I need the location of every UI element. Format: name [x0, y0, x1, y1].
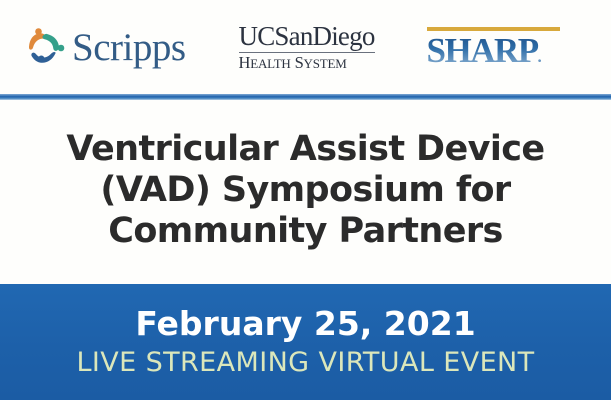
ucsd-diego-text: Diego	[313, 21, 375, 51]
event-details-band: February 25, 2021 LIVE STREAMING VIRTUAL…	[0, 284, 611, 400]
scripps-logo: Scripps	[22, 24, 186, 70]
event-title-line-2: (VAD) Symposium for	[100, 170, 510, 211]
ucsd-health-system-text: HEALTH SYSTEM	[239, 54, 375, 71]
event-title-block: Ventricular Assist Device (VAD) Symposiu…	[0, 100, 611, 284]
ucsd-h-cap: H	[239, 53, 251, 72]
ucsd-s-cap: S	[295, 53, 304, 72]
scripps-circle-figures-icon	[22, 24, 68, 70]
ucsd-ealth-text: EALTH	[250, 56, 290, 71]
event-title-line-1: Ventricular Assist Device	[66, 129, 544, 170]
uc-san-diego-health-logo: UCSanDiego HEALTH SYSTEM	[239, 23, 375, 72]
sharp-wordmark: SHARP.	[427, 33, 560, 68]
ucsd-wordmark: UCSanDiego	[239, 23, 375, 51]
event-banner: Scripps UCSanDiego HEALTH SYSTEM SHARP. …	[0, 0, 611, 400]
ucsd-divider-rule	[239, 52, 375, 53]
ucsd-san-text: San	[274, 21, 312, 51]
event-title-line-3: Community Partners	[108, 211, 503, 252]
sharp-healthcare-logo: SHARP.	[427, 27, 560, 68]
ucsd-uc-text: UC	[239, 21, 275, 51]
event-date: February 25, 2021	[135, 305, 475, 343]
event-format-label: LIVE STREAMING VIRTUAL EVENT	[76, 347, 534, 379]
scripps-wordmark: Scripps	[72, 28, 186, 67]
partner-logo-row: Scripps UCSanDiego HEALTH SYSTEM SHARP.	[0, 0, 611, 94]
ucsd-ystem-text: YSTEM	[304, 56, 347, 71]
sharp-registered-mark: .	[538, 49, 541, 66]
sharp-text: SHARP	[427, 31, 538, 70]
